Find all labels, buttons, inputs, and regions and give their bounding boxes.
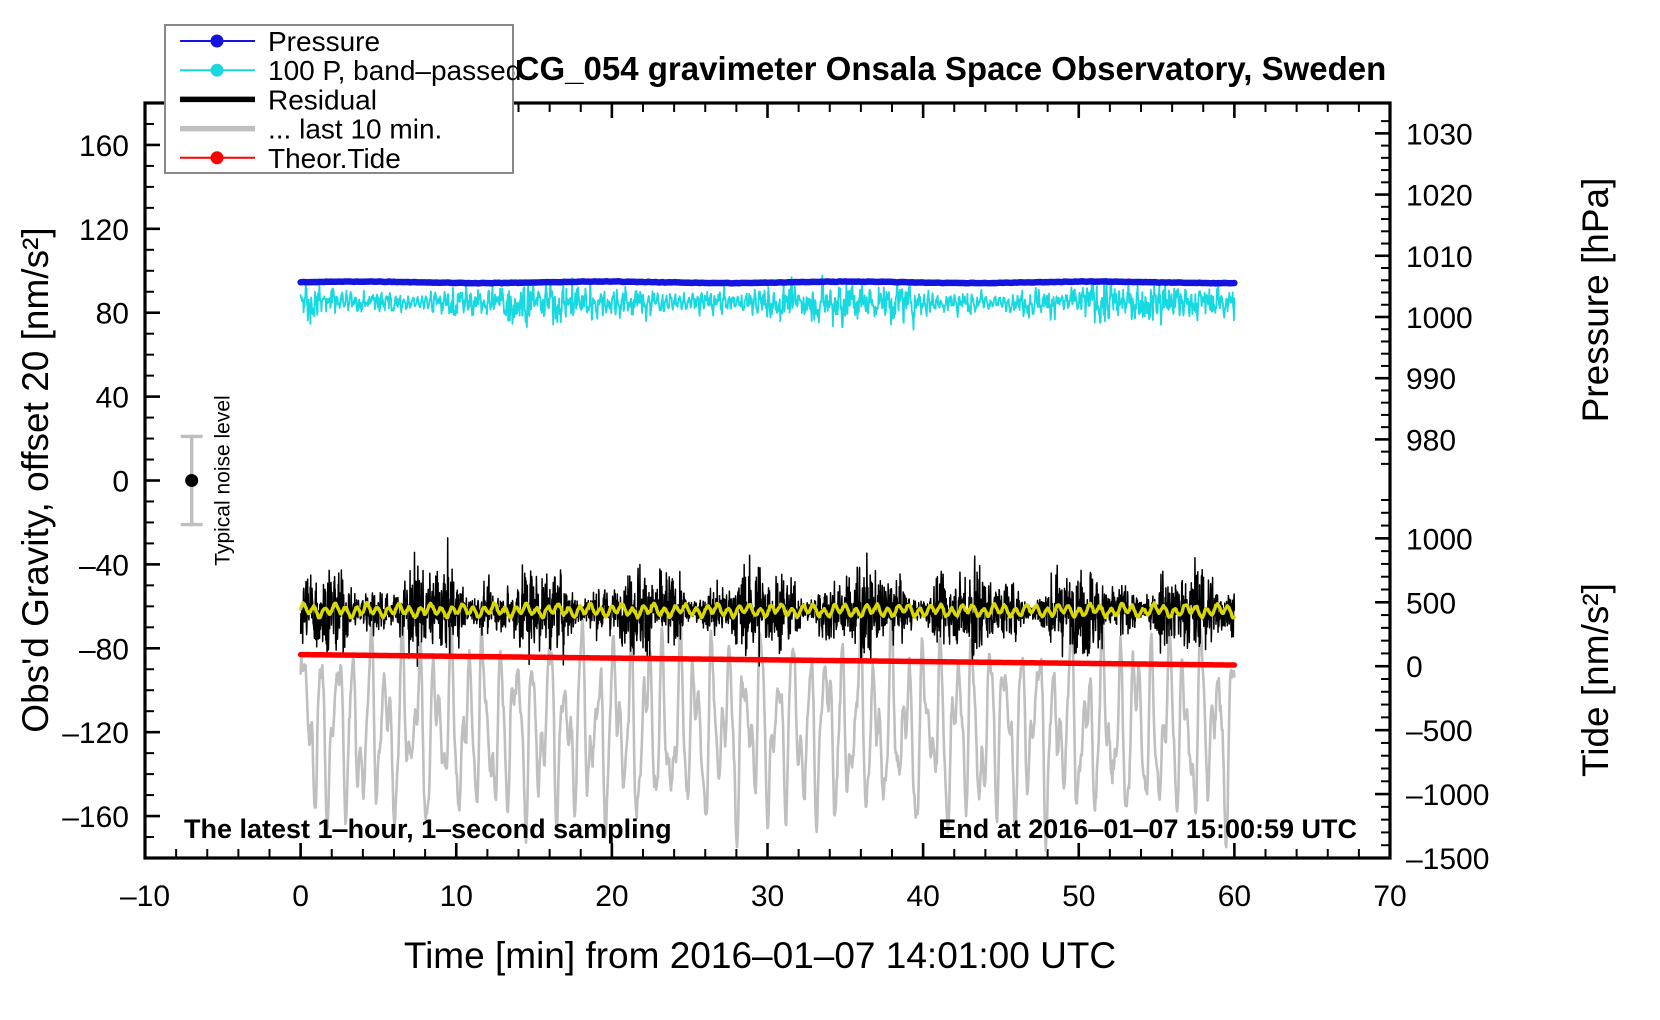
tide-tick-label: 500: [1406, 587, 1456, 620]
chart-svg: ‒10010203040506070 16012080400‒40‒80‒120…: [0, 0, 1660, 1020]
legend-item-label: Pressure: [268, 26, 380, 57]
legend-swatch-dot: [211, 64, 224, 77]
y-tick-label: ‒80: [79, 633, 129, 666]
y-axis-title-tide: Tide [nm/s²]: [1575, 583, 1616, 777]
legend-item-label: 100 P, band‒passed: [268, 55, 521, 86]
x-tick-label: 60: [1218, 880, 1251, 913]
gravimeter-plot-figure: ‒10010203040506070 16012080400‒40‒80‒120…: [0, 0, 1660, 1020]
y-tick-label: 0: [112, 466, 129, 499]
y-tick-label: 80: [96, 298, 129, 331]
legend-item-label: Residual: [268, 84, 377, 115]
x-axis-title: Time [min] from 2016‒01‒07 14:01:00 UTC: [404, 935, 1116, 976]
y-tick-label: ‒160: [62, 801, 129, 834]
legend-item-label: Theor.Tide: [268, 143, 401, 174]
x-tick-label: 50: [1062, 880, 1095, 913]
y-axis-title-left: Obs'd Gravity, offset 20 [nm/s²]: [15, 227, 56, 732]
tide-tick-label: ‒1000: [1406, 779, 1489, 812]
y-tick-label: ‒120: [62, 717, 129, 750]
pressure-tick-label: 980: [1406, 424, 1456, 457]
tide-tick-label: ‒1500: [1406, 843, 1489, 876]
x-tick-label: 20: [595, 880, 628, 913]
tide-tick-label: 0: [1406, 651, 1423, 684]
page-title: SCG_054 gravimeter Onsala Space Observat…: [494, 50, 1387, 87]
pressure-tick-label: 1000: [1406, 302, 1473, 335]
pressure-tick-label: 1010: [1406, 241, 1473, 274]
sampling-note: The latest 1‒hour, 1‒second sampling: [184, 814, 672, 844]
end-time-note: End at 2016‒01‒07 15:00:59 UTC: [938, 814, 1357, 844]
trace-pressure: [301, 281, 1235, 283]
x-tick-label: 10: [440, 880, 473, 913]
x-tick-label: ‒10: [120, 880, 170, 913]
x-tick-label: 70: [1373, 880, 1406, 913]
chart-legend[interactable]: Pressure100 P, band‒passedResidual... la…: [165, 25, 521, 174]
pressure-tick-label: 990: [1406, 363, 1456, 396]
typical-noise-level-label: Typical noise level: [212, 395, 235, 565]
pressure-tick-label: 1020: [1406, 180, 1473, 213]
y-tick-label: ‒40: [79, 549, 129, 582]
x-tick-label: 40: [906, 880, 939, 913]
legend-item-label: ... last 10 min.: [268, 114, 442, 145]
x-tick-label: 0: [292, 880, 309, 913]
tide-tick-label: ‒500: [1406, 715, 1473, 748]
y-tick-label: 120: [79, 214, 129, 247]
pressure-tick-label: 1030: [1406, 118, 1473, 151]
legend-swatch-dot: [211, 151, 224, 164]
x-tick-label: 30: [751, 880, 784, 913]
tide-tick-label: 1000: [1406, 523, 1473, 556]
legend-swatch-dot: [211, 35, 224, 48]
y-tick-label: 160: [79, 130, 129, 163]
y-tick-label: 40: [96, 382, 129, 415]
y-axis-title-pressure: Pressure [hPa]: [1575, 178, 1616, 423]
noise-center-point: [185, 474, 198, 487]
